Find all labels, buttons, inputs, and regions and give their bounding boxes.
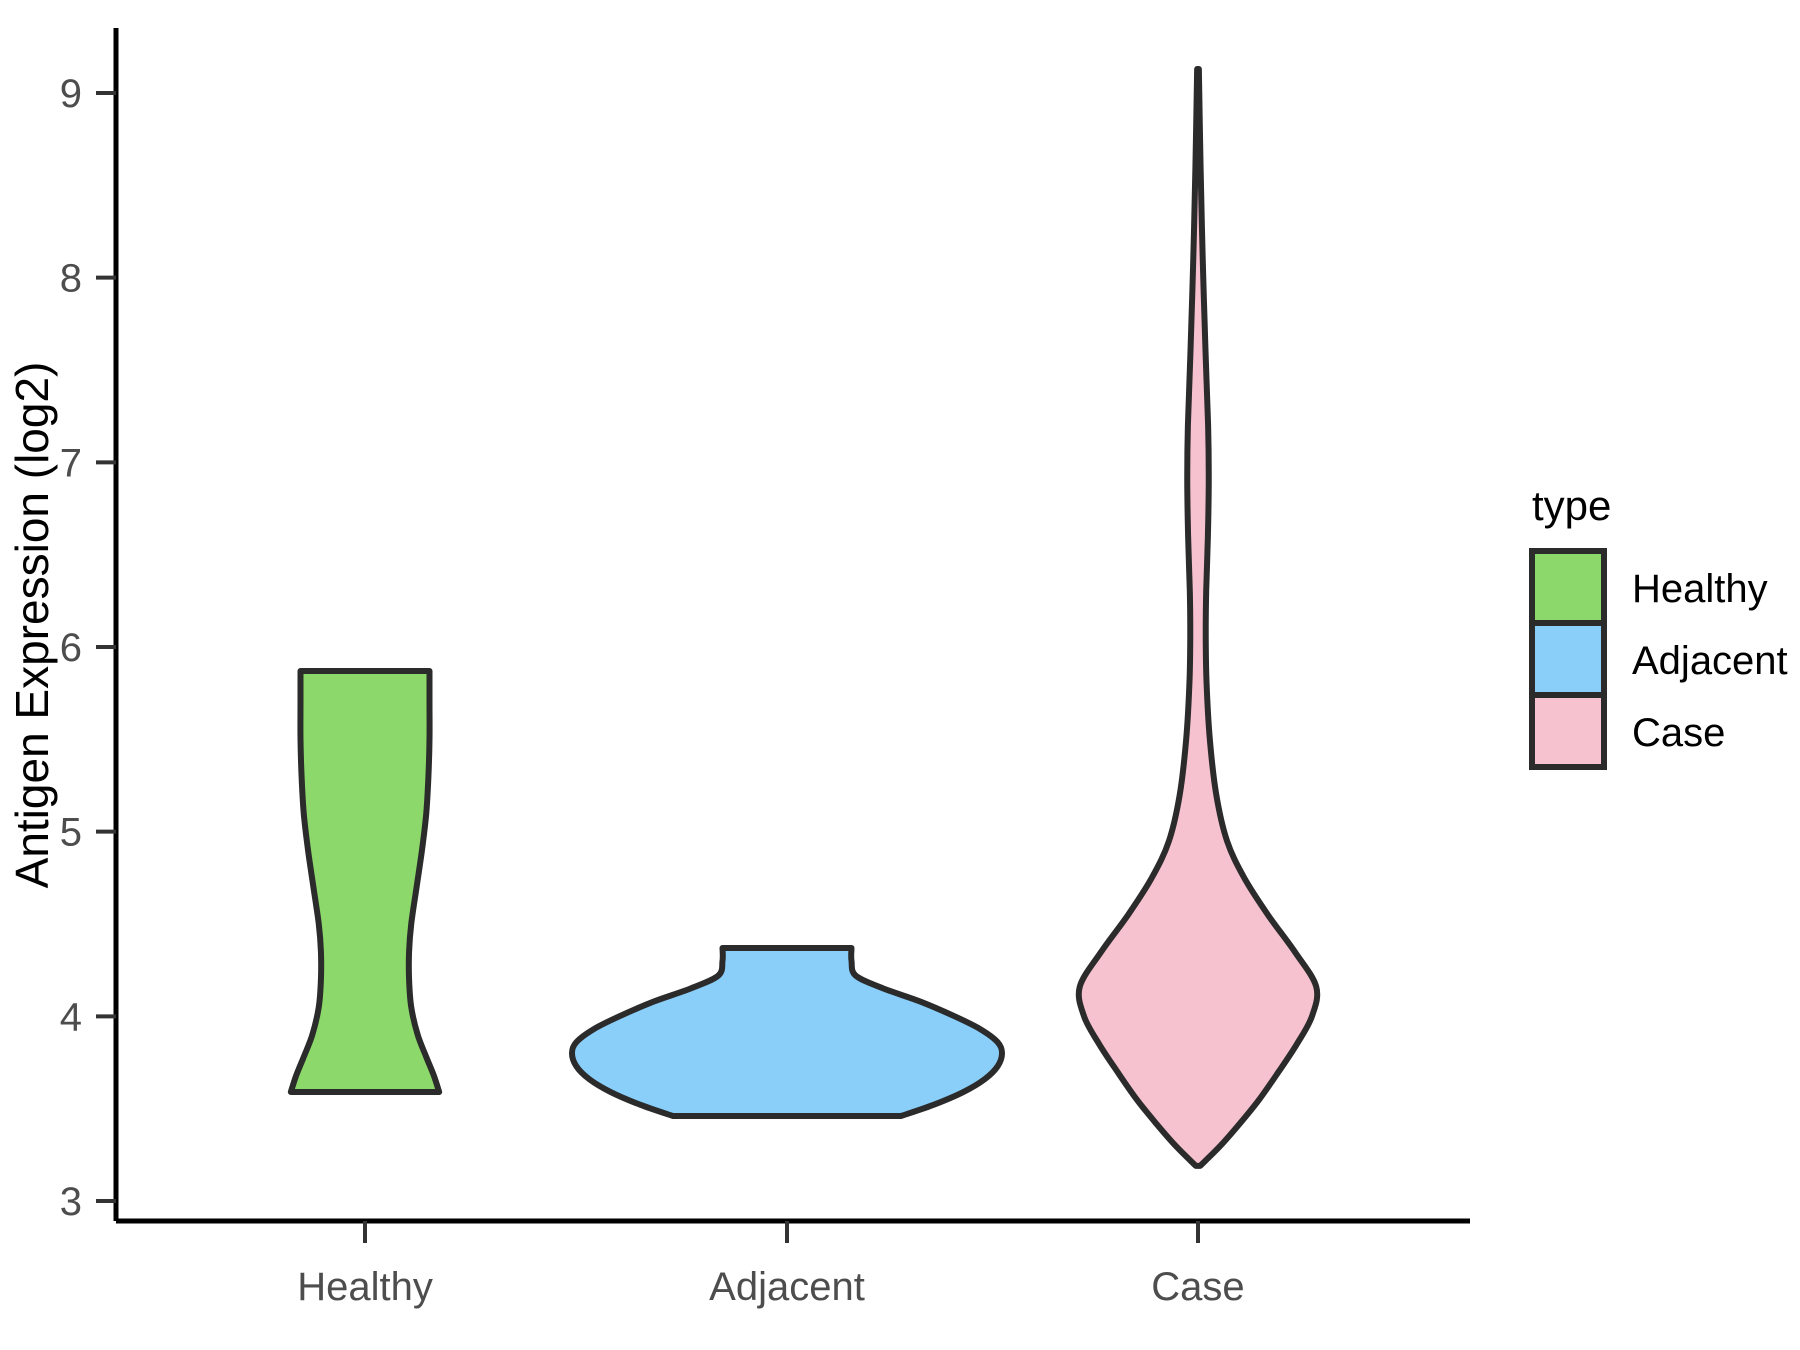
violin-shapes [291,69,1317,1166]
y-tick-label: 4 [60,995,82,1039]
y-tick-label: 3 [60,1180,82,1224]
x-tick-label-case: Case [1151,1265,1244,1309]
y-tick-label: 6 [60,626,82,670]
legend-swatch-healthy[interactable] [1532,551,1604,623]
x-tick-label-healthy: Healthy [297,1265,433,1309]
y-tick-label: 9 [60,72,82,116]
legend-label-healthy: Healthy [1632,567,1768,611]
legend-title: type [1532,482,1611,529]
y-tick-label: 5 [60,811,82,855]
legend: HealthyAdjacentCase [1532,551,1788,767]
legend-label-adjacent: Adjacent [1632,639,1788,683]
legend-label-case: Case [1632,711,1725,755]
violin-healthy [291,671,439,1092]
violin-case [1079,69,1317,1166]
legend-swatch-case[interactable] [1532,695,1604,767]
y-tick-label: 7 [60,441,82,485]
violin-adjacent [572,948,1002,1116]
x-axis-ticks: HealthyAdjacentCase [297,1221,1245,1309]
y-tick-label: 8 [60,257,82,301]
legend-swatch-adjacent[interactable] [1532,623,1604,695]
violin-plot-figure: 3456789 HealthyAdjacentCase Antigen Expr… [0,0,1800,1350]
x-tick-label-adjacent: Adjacent [709,1265,865,1309]
y-axis-title: Antigen Expression (log2) [6,362,58,889]
y-axis-ticks: 3456789 [60,72,116,1224]
plot-svg: 3456789 HealthyAdjacentCase Antigen Expr… [0,0,1800,1350]
